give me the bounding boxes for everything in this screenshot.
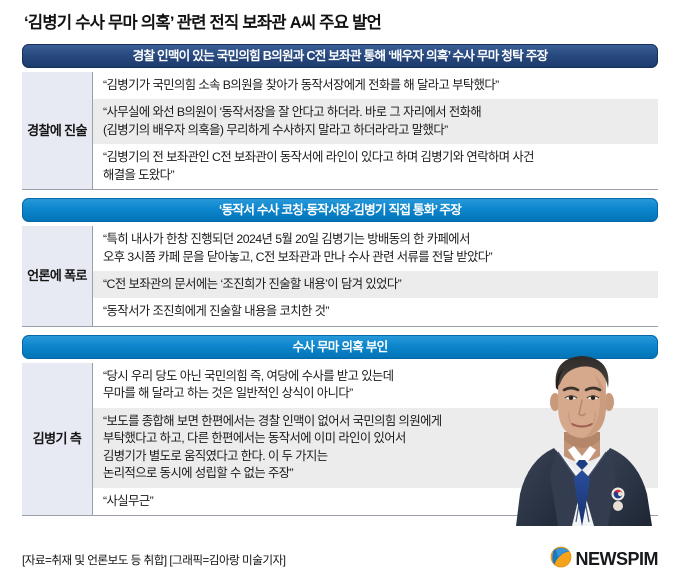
quote-row: “당시 우리 당도 아닌 국민의힘 즉, 여당에 수사를 받고 있는데 무마를 … — [93, 363, 658, 408]
section-label-2: 언론에 폭로 — [22, 226, 93, 326]
quote-row: “사실무근” — [93, 488, 658, 515]
newspim-wordmark: NEWSPIM — [575, 549, 658, 570]
newspim-globe-icon — [550, 546, 572, 573]
quote-row: “보도를 종합해 보면 한편에서는 경찰 인맥이 없어서 국민의힘 의원에게 부… — [93, 408, 658, 488]
section-header-3: 수사 무마 의혹 부인 — [22, 335, 658, 359]
section-rows-3: “당시 우리 당도 아닌 국민의힘 즉, 여당에 수사를 받고 있는데 무마를 … — [93, 363, 658, 515]
section-label-1: 경찰에 진술 — [22, 72, 93, 189]
quote-row: “김병기가 국민의힘 소속 B의원을 찾아가 동작서장에게 전화를 해 달라고 … — [93, 72, 658, 99]
section-rows-1: “김병기가 국민의힘 소속 B의원을 찾아가 동작서장에게 전화를 해 달라고 … — [93, 72, 658, 189]
section-header-2: ‘동작서 수사 코칭·동작서장-김병기 직접 통화’ 주장 — [22, 198, 658, 222]
section-label-3: 김병기 측 — [22, 363, 93, 515]
section-block-2: 언론에 폭로 “특히 내사가 한창 진행되던 2024년 5월 20일 김병기는… — [22, 226, 658, 327]
quote-row: “특히 내사가 한창 진행되던 2024년 5월 20일 김병기는 방배동의 한… — [93, 226, 658, 271]
infographic-page: ‘김병기 수사 무마 의혹’ 관련 전직 보좌관 A씨 주요 발언 경찰 인맥이… — [0, 0, 680, 585]
quote-row: “동작서가 조진희에게 진술할 내용을 코치한 것” — [93, 298, 658, 325]
source-credit: [자료=취재 및 언론보도 등 취합] [그래픽=김아랑 미술기자] — [22, 552, 285, 568]
section-header-1: 경찰 인맥이 있는 국민의힘 B의원과 C전 보좌관 통해 ‘배우자 의혹’ 수… — [22, 44, 658, 68]
section-block-1: 경찰에 진술 “김병기가 국민의힘 소속 B의원을 찾아가 동작서장에게 전화를… — [22, 72, 658, 190]
footer: [자료=취재 및 언론보도 등 취합] [그래픽=김아랑 미술기자] NEWSP… — [22, 546, 658, 573]
section-rows-2: “특히 내사가 한창 진행되던 2024년 5월 20일 김병기는 방배동의 한… — [93, 226, 658, 326]
page-title: ‘김병기 수사 무마 의혹’ 관련 전직 보좌관 A씨 주요 발언 — [22, 0, 658, 44]
quote-row: “사무실에 와선 B의원이 '동작서장을 잘 안다고 하더라. 바로 그 자리에… — [93, 99, 658, 144]
section-block-3: 김병기 측 “당시 우리 당도 아닌 국민의힘 즉, 여당에 수사를 받고 있는… — [22, 363, 658, 516]
quote-row: “C전 보좌관의 문서에는 ‘조진희가 진술할 내용’이 담겨 있었다” — [93, 271, 658, 298]
quote-row: “김병기의 전 보좌관인 C전 보좌관이 동작서에 라인이 있다고 하며 김병기… — [93, 144, 658, 189]
newspim-logo: NEWSPIM — [550, 546, 658, 573]
